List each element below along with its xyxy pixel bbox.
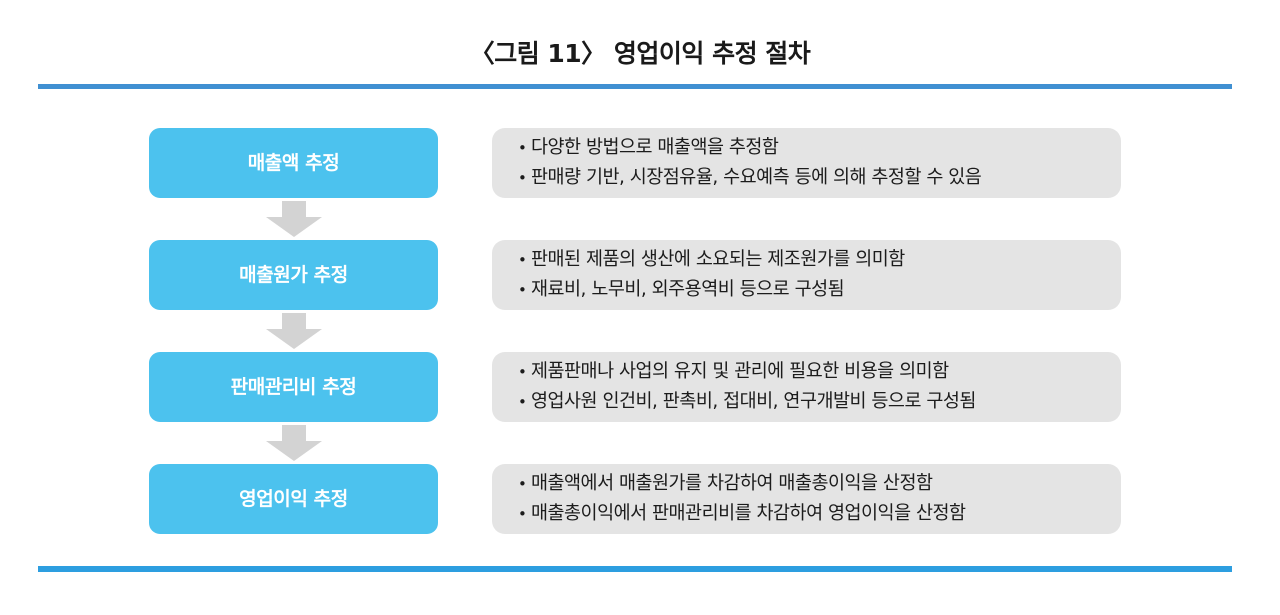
bullet-text: 다양한 방법으로 매출액을 추정함 — [531, 133, 778, 163]
bullet-dot-icon: • — [518, 357, 531, 387]
description-panel-1: • 다양한 방법으로 매출액을 추정함 • 판매량 기반, 시장점유율, 수요예… — [492, 128, 1121, 198]
bullet-item: • 판매된 제품의 생산에 소요되는 제조원가를 의미함 — [518, 245, 1105, 275]
bullet-dot-icon: • — [518, 469, 531, 499]
step-box-sga-estimate[interactable]: 판매관리비 추정 — [149, 352, 438, 422]
bullet-item: • 매출총이익에서 판매관리비를 차감하여 영업이익을 산정함 — [518, 499, 1105, 529]
flow-connector-2 — [149, 310, 438, 352]
figure-title: 〈그림 11〉 영업이익 추정 절차 — [0, 38, 1280, 70]
description-panel-3: • 제품판매나 사업의 유지 및 관리에 필요한 비용을 의미함 • 영업사원 … — [492, 352, 1121, 422]
bullet-item: • 다양한 방법으로 매출액을 추정함 — [518, 133, 1105, 163]
description-panel-column: • 다양한 방법으로 매출액을 추정함 • 판매량 기반, 시장점유율, 수요예… — [492, 128, 1121, 534]
bullet-dot-icon: • — [518, 133, 531, 163]
process-step-2: 매출원가 추정 — [149, 240, 438, 310]
bullet-item: • 제품판매나 사업의 유지 및 관리에 필요한 비용을 의미함 — [518, 357, 1105, 387]
bullet-item: • 영업사원 인건비, 판촉비, 접대비, 연구개발비 등으로 구성됨 — [518, 387, 1105, 417]
footer-divider-bottom — [38, 566, 1232, 572]
arrow-down-icon — [266, 201, 322, 237]
step-box-sales-estimate[interactable]: 매출액 추정 — [149, 128, 438, 198]
bullet-text: 판매량 기반, 시장점유율, 수요예측 등에 의해 추정할 수 있음 — [531, 163, 981, 193]
step-box-label: 매출액 추정 — [248, 151, 340, 175]
step-box-label: 판매관리비 추정 — [231, 375, 357, 399]
step-box-label: 매출원가 추정 — [239, 263, 348, 287]
process-step-4: 영업이익 추정 — [149, 464, 438, 534]
bullet-dot-icon: • — [518, 275, 531, 305]
bullet-item: • 매출액에서 매출원가를 차감하여 매출총이익을 산정함 — [518, 469, 1105, 499]
description-panel-2: • 판매된 제품의 생산에 소요되는 제조원가를 의미함 • 재료비, 노무비,… — [492, 240, 1121, 310]
bullet-text: 매출액에서 매출원가를 차감하여 매출총이익을 산정함 — [531, 469, 932, 499]
bullet-dot-icon: • — [518, 499, 531, 529]
step-box-operating-profit-estimate[interactable]: 영업이익 추정 — [149, 464, 438, 534]
bullet-text: 판매된 제품의 생산에 소요되는 제조원가를 의미함 — [531, 245, 905, 275]
figure-canvas: 〈그림 11〉 영업이익 추정 절차 매출액 추정 매출원가 추정 — [0, 0, 1280, 615]
flow-connector-1 — [149, 198, 438, 240]
process-step-1: 매출액 추정 — [149, 128, 438, 198]
bullet-dot-icon: • — [518, 387, 531, 417]
title-divider-top — [38, 84, 1232, 89]
arrow-down-icon — [266, 313, 322, 349]
bullet-dot-icon: • — [518, 245, 531, 275]
bullet-text: 제품판매나 사업의 유지 및 관리에 필요한 비용을 의미함 — [531, 357, 949, 387]
description-panel-4: • 매출액에서 매출원가를 차감하여 매출총이익을 산정함 • 매출총이익에서 … — [492, 464, 1121, 534]
flow-connector-3 — [149, 422, 438, 464]
bullet-dot-icon: • — [518, 163, 531, 193]
bullet-item: • 판매량 기반, 시장점유율, 수요예측 등에 의해 추정할 수 있음 — [518, 163, 1105, 193]
process-step-3: 판매관리비 추정 — [149, 352, 438, 422]
step-box-cogs-estimate[interactable]: 매출원가 추정 — [149, 240, 438, 310]
bullet-text: 매출총이익에서 판매관리비를 차감하여 영업이익을 산정함 — [531, 499, 966, 529]
bullet-item: • 재료비, 노무비, 외주용역비 등으로 구성됨 — [518, 275, 1105, 305]
step-box-label: 영업이익 추정 — [239, 487, 348, 511]
arrow-down-icon — [266, 425, 322, 461]
bullet-text: 영업사원 인건비, 판촉비, 접대비, 연구개발비 등으로 구성됨 — [531, 387, 976, 417]
bullet-text: 재료비, 노무비, 외주용역비 등으로 구성됨 — [531, 275, 844, 305]
process-flow-column: 매출액 추정 매출원가 추정 판매관리비 추정 — [149, 128, 438, 534]
